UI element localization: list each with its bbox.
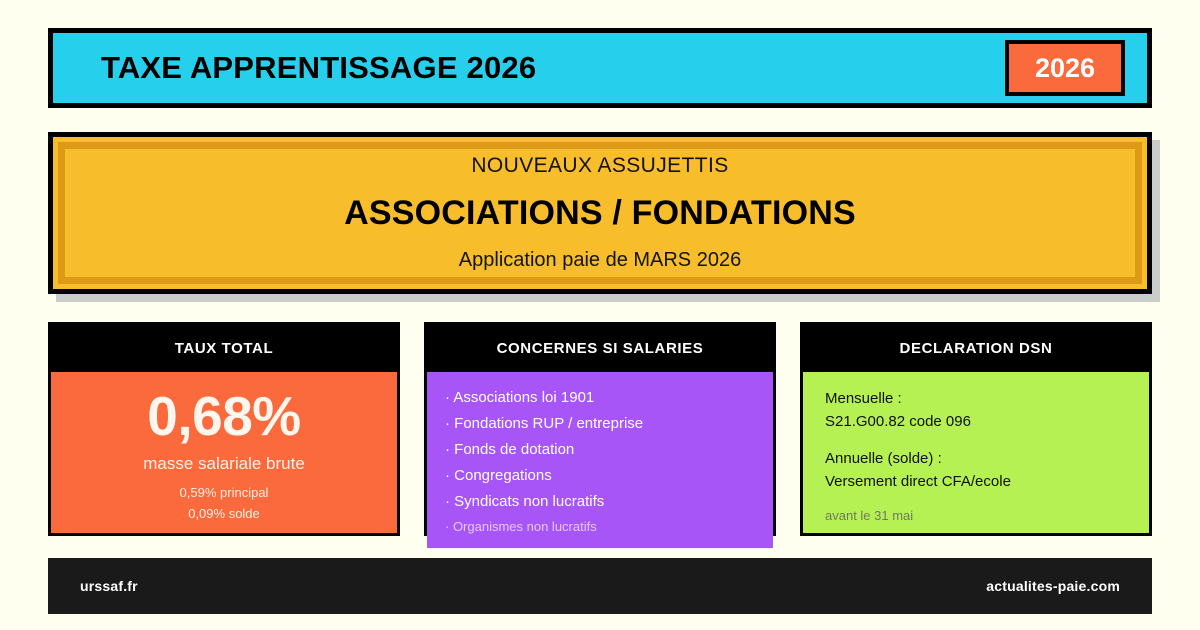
card-declaration-dsn: DECLARATION DSN Mensuelle : S21.G00.82 c…: [800, 322, 1152, 536]
card-header-declaration-dsn: DECLARATION DSN: [803, 325, 1149, 372]
card-body-taux-total: 0,68% masse salariale brute 0,59% princi…: [51, 372, 397, 533]
card-body-concernes: · Associations loi 1901 · Fondations RUP…: [427, 372, 773, 548]
list-item: · Fondations RUP / entreprise: [445, 410, 773, 436]
year-badge: 2026: [1005, 40, 1125, 96]
list-item: · Associations loi 1901: [445, 384, 773, 410]
dsn-value-annuelle: Versement direct CFA/ecole: [825, 470, 1149, 493]
rate-value: 0,68%: [147, 389, 300, 444]
card-header-concernes: CONCERNES SI SALARIES: [427, 325, 773, 372]
banner-subline: Application paie de MARS 2026: [459, 249, 741, 272]
list-item: · Organismes non lucratifs: [445, 514, 773, 538]
page-title: TAXE APPRENTISSAGE 2026: [101, 50, 536, 86]
dsn-label-mensuelle: Mensuelle :: [825, 387, 1149, 410]
card-body-declaration-dsn: Mensuelle : S21.G00.82 code 096 Annuelle…: [803, 372, 1149, 533]
cards-row: TAUX TOTAL 0,68% masse salariale brute 0…: [48, 322, 1152, 536]
footer-source-left: urssaf.fr: [80, 578, 138, 594]
card-header-taux-total: TAUX TOTAL: [51, 325, 397, 372]
title-bar: TAXE APPRENTISSAGE 2026 2026: [48, 28, 1152, 108]
banner-headline: ASSOCIATIONS / FONDATIONS: [344, 194, 856, 233]
highlight-banner: NOUVEAUX ASSUJETTIS ASSOCIATIONS / FONDA…: [48, 132, 1152, 294]
banner-kicker: NOUVEAUX ASSUJETTIS: [471, 154, 728, 178]
rate-caption: masse salariale brute: [143, 454, 305, 474]
list-item: · Congregations: [445, 462, 773, 488]
footer-bar: urssaf.fr actualites-paie.com: [48, 558, 1152, 614]
footer-source-right: actualites-paie.com: [986, 578, 1120, 594]
list-item: · Fonds de dotation: [445, 436, 773, 462]
dsn-value-mensuelle: S21.G00.82 code 096: [825, 410, 1149, 433]
dsn-deadline-note: avant le 31 mai: [825, 509, 1149, 522]
rate-detail-solde: 0,09% solde: [188, 506, 260, 521]
card-taux-total: TAUX TOTAL 0,68% masse salariale brute 0…: [48, 322, 400, 536]
rate-detail-principal: 0,59% principal: [180, 485, 269, 500]
dsn-label-annuelle: Annuelle (solde) :: [825, 447, 1149, 470]
infographic-page: TAXE APPRENTISSAGE 2026 2026 NOUVEAUX AS…: [0, 0, 1200, 630]
list-item: · Syndicats non lucratifs: [445, 488, 773, 514]
card-concernes: CONCERNES SI SALARIES · Associations loi…: [424, 322, 776, 536]
